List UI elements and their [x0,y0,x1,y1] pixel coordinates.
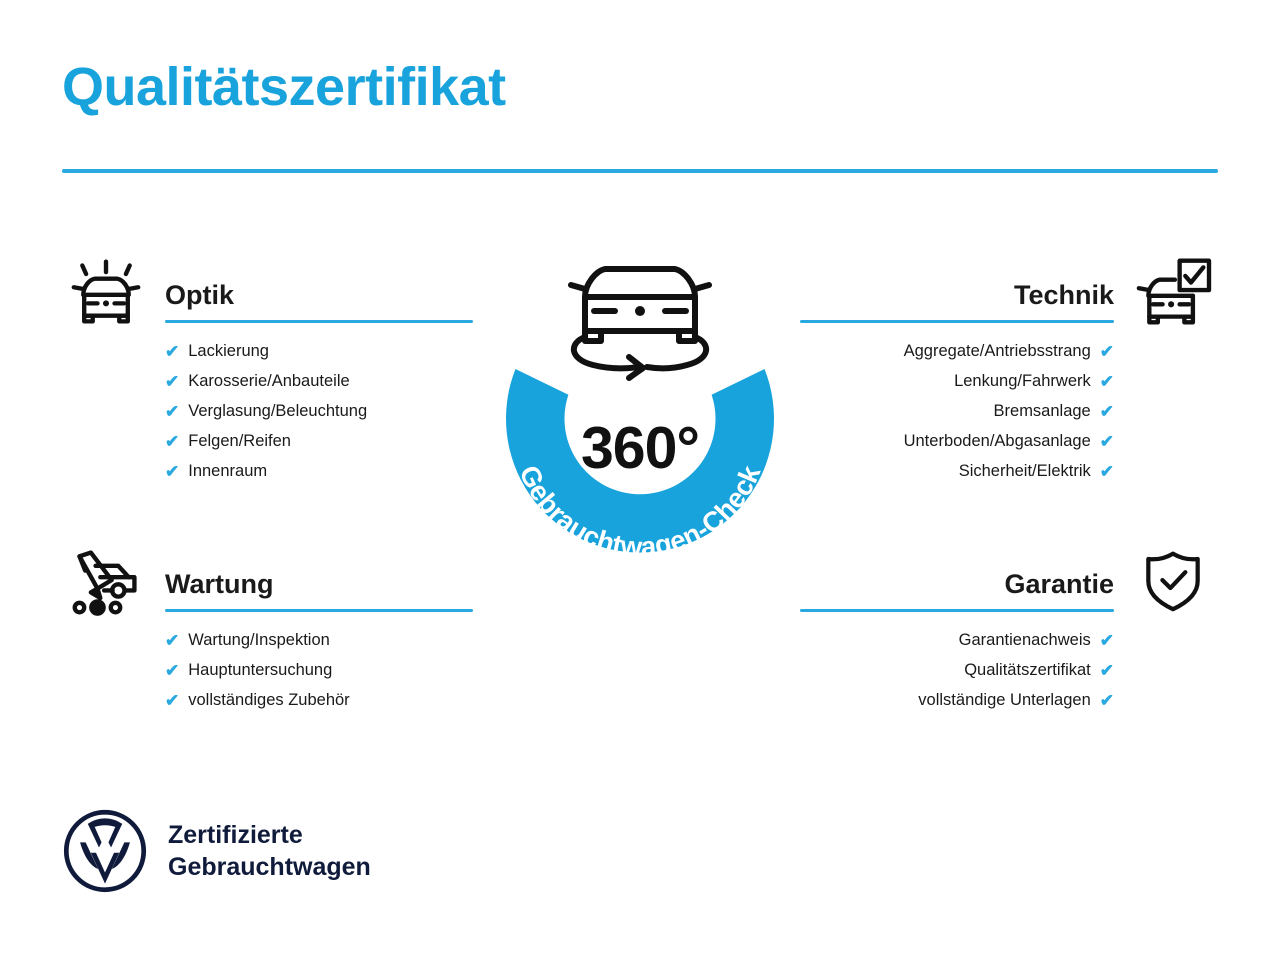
shield-check-icon [1129,544,1217,618]
list-item: vollständige Unterlagen✔ [795,685,1114,715]
check-icon: ✔ [1100,632,1114,649]
section-header: Technik [795,255,1217,329]
check-icon: ✔ [165,632,179,649]
car-checkbox-icon [1129,255,1217,329]
list-item-label: Innenraum [188,463,267,480]
check-icon: ✔ [165,692,179,709]
list-item-label: Lackierung [188,343,269,360]
car-shine-icon [62,255,150,329]
list-item: ✔Verglasung/Beleuchtung [165,396,482,426]
list-item: ✔Wartung/Inspektion [165,625,482,655]
volkswagen-logo [62,808,148,894]
section-header: Wartung [62,544,482,618]
list-item-label: Karosserie/Anbauteile [188,373,349,390]
left-column: Optik ✔Lackierung ✔Karosserie/Anbauteile… [62,255,482,715]
check-icon: ✔ [165,433,179,450]
footer-brand-text: Zertifizierte Gebrauchtwagen [168,819,371,883]
page-title: Qualitätszertifikat [62,58,506,117]
list-item: ✔Lackierung [165,336,482,366]
list-item: Unterboden/Abgasanlage✔ [795,426,1114,456]
check-icon: ✔ [1100,433,1114,450]
section-optik: Optik ✔Lackierung ✔Karosserie/Anbauteile… [62,255,482,486]
check-icon: ✔ [165,662,179,679]
list-item-label: Wartung/Inspektion [188,632,330,649]
section-header: Optik [62,255,482,329]
check-icon: ✔ [165,373,179,390]
section-title: Optik [165,282,234,309]
check-icon: ✔ [1100,463,1114,480]
list-item-label: Qualitätszertifikat [964,662,1091,679]
section-divider [800,320,1114,323]
section-divider [165,320,473,323]
checklist: Aggregate/Antriebsstrang✔ Lenkung/Fahrwe… [795,329,1217,486]
list-item: ✔Innenraum [165,456,482,486]
list-item: Qualitätszertifikat✔ [795,655,1114,685]
section-title: Garantie [1004,571,1114,598]
list-item: Sicherheit/Elektrik✔ [795,456,1114,486]
pencil-car-icon [62,544,150,618]
section-title: Technik [1014,282,1114,309]
list-item-label: Aggregate/Antriebsstrang [904,343,1091,360]
badge-360-check: Gebrauchtwagen-Check 360° [455,243,825,613]
checklist: ✔Lackierung ✔Karosserie/Anbauteile ✔Verg… [62,329,482,486]
ring-arc [506,369,774,553]
list-item: Aggregate/Antriebsstrang✔ [795,336,1114,366]
list-item-label: vollständige Unterlagen [918,692,1090,709]
footer-brand: Zertifizierte Gebrauchtwagen [62,808,371,894]
footer-line-1: Zertifizierte [168,819,371,851]
list-item: ✔Karosserie/Anbauteile [165,366,482,396]
section-technik: Technik Aggregate/Antriebsstrang✔ Lenkun… [795,255,1217,486]
check-icon: ✔ [165,463,179,480]
list-item-label: Verglasung/Beleuchtung [188,403,367,420]
badge-graphic: Gebrauchtwagen-Check [455,243,825,613]
check-icon: ✔ [1100,373,1114,390]
check-icon: ✔ [1100,343,1114,360]
check-icon: ✔ [1100,403,1114,420]
footer-line-2: Gebrauchtwagen [168,851,371,883]
list-item: Garantienachweis✔ [795,625,1114,655]
check-icon: ✔ [1100,692,1114,709]
list-item: Lenkung/Fahrwerk✔ [795,366,1114,396]
section-divider [165,609,473,612]
list-item: ✔vollständiges Zubehör [165,685,482,715]
section-divider [800,609,1114,612]
list-item-label: Felgen/Reifen [188,433,291,450]
list-item-label: Bremsanlage [994,403,1091,420]
list-item: ✔Felgen/Reifen [165,426,482,456]
list-item-label: Sicherheit/Elektrik [959,463,1091,480]
title-divider [62,169,1218,173]
section-wartung: Wartung ✔Wartung/Inspektion ✔Hauptunters… [62,544,482,715]
check-icon: ✔ [165,343,179,360]
check-icon: ✔ [165,403,179,420]
list-item-label: Hauptuntersuchung [188,662,332,679]
list-item-label: Lenkung/Fahrwerk [954,373,1091,390]
section-header: Garantie [795,544,1217,618]
list-item: ✔Hauptuntersuchung [165,655,482,685]
car-rotate-icon [571,269,709,378]
right-column: Technik Aggregate/Antriebsstrang✔ Lenkun… [795,255,1217,715]
checklist: Garantienachweis✔ Qualitätszertifikat✔ v… [795,618,1217,715]
checklist: ✔Wartung/Inspektion ✔Hauptuntersuchung ✔… [62,618,482,715]
section-title: Wartung [165,571,273,598]
list-item: Bremsanlage✔ [795,396,1114,426]
check-icon: ✔ [1100,662,1114,679]
list-item-label: Garantienachweis [959,632,1091,649]
list-item-label: vollständiges Zubehör [188,692,349,709]
certificate-page: Qualitätszertifikat [0,0,1280,960]
list-item-label: Unterboden/Abgasanlage [904,433,1091,450]
section-garantie: Garantie Garantienachweis✔ Qualitätszert… [795,544,1217,715]
